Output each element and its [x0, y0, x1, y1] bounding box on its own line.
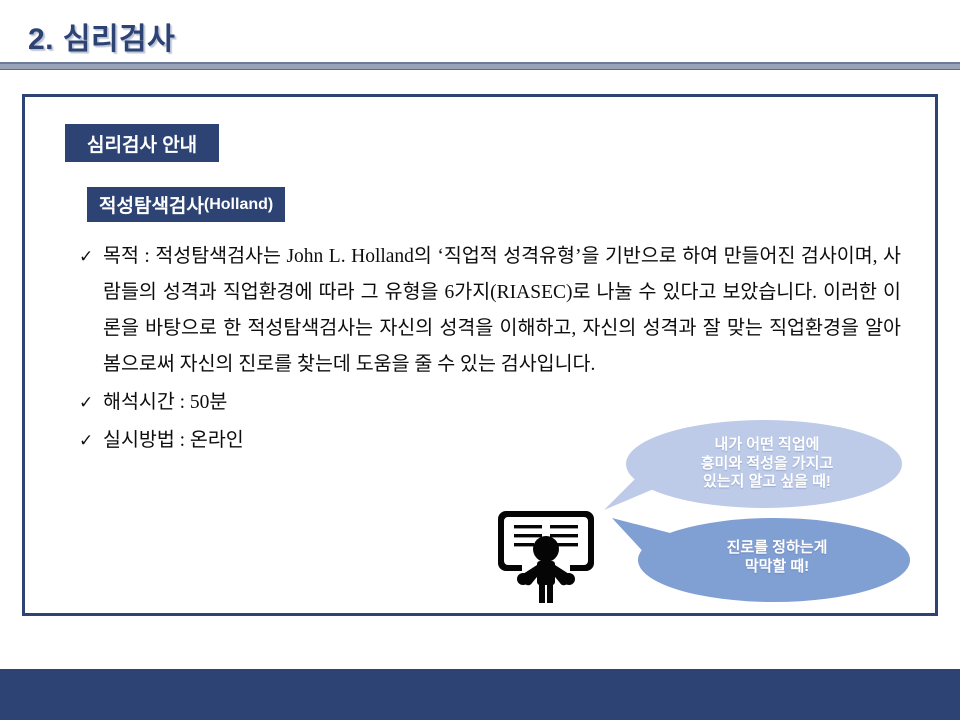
list-item-text: 해석시간 : 50분: [103, 385, 901, 421]
speech-bubble-interest: 내가 어떤 직업에흥미와 적성을 가지고있는지 알고 싶을 때!: [604, 418, 904, 510]
list-item: ✓ 목적 : 적성탐색검사는 John L. Holland의 ‘직업적 성격유…: [75, 239, 901, 383]
check-icon: ✓: [75, 423, 103, 459]
title-divider-bottom: [0, 69, 960, 70]
check-icon: ✓: [75, 385, 103, 421]
test-name-chip: 적성탐색검사(Holland): [87, 187, 285, 222]
footer-band: [0, 669, 960, 720]
list-item-text: 목적 : 적성탐색검사는 John L. Holland의 ‘직업적 성격유형’…: [103, 239, 901, 383]
test-name-subtext: (Holland): [204, 196, 273, 214]
test-name-text: 적성탐색검사: [99, 191, 204, 218]
title-divider: [0, 62, 960, 70]
section-label-chip: 심리검사 안내: [65, 124, 219, 162]
section-label-text: 심리검사 안내: [87, 130, 197, 157]
presenter-board-icon: [492, 495, 600, 603]
speech-bubble-interest-text: 내가 어떤 직업에흥미와 적성을 가지고있는지 알고 싶을 때!: [675, 436, 834, 492]
list-item: ✓ 해석시간 : 50분: [75, 385, 901, 421]
check-icon: ✓: [75, 239, 103, 275]
speech-bubble-career: 진로를 정하는게막막할 때!: [612, 514, 912, 602]
speech-bubble-career-text: 진로를 정하는게막막할 때!: [697, 539, 828, 577]
page-title: 2. 심리검사: [28, 14, 175, 58]
